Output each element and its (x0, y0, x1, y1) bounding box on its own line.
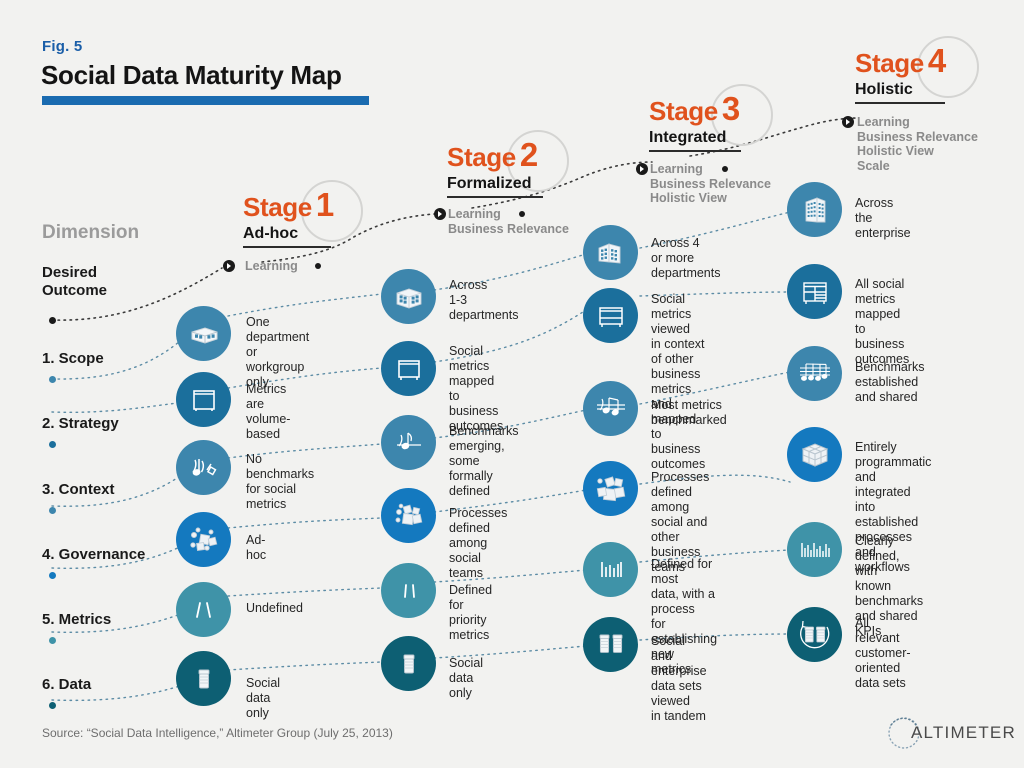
stage-header-1: Stage1 Ad-hoc (243, 186, 334, 248)
stage-subtitle-3: Integrated (649, 129, 741, 147)
stage-subtitle-1: Ad-hoc (243, 225, 334, 243)
stage-subtitle-4: Holistic (855, 81, 946, 99)
dimension-row-desired-outcome: Desired Outcome (42, 264, 107, 300)
altimeter-wordmark: ALTIMETER (911, 723, 1016, 743)
dimension-dot-governance (49, 572, 56, 579)
source-caption: Source: “Social Data Intelligence,” Alti… (42, 726, 393, 740)
node-label: Most metrics benchmarked (651, 398, 727, 428)
bars-two-icon (381, 563, 436, 618)
stage-rule-3 (649, 150, 741, 152)
dimension-label: 2. Strategy (42, 415, 119, 432)
node-label: Across 4 or more departments (651, 236, 720, 281)
stage-word: Stage (243, 192, 312, 222)
node-label: Across 1-3 departments (449, 278, 518, 323)
building-medium-icon (381, 269, 436, 324)
node-label: Social data only (246, 676, 280, 721)
dimension-label: 1. Scope (42, 350, 104, 367)
cubes-scatter-icon (176, 512, 231, 567)
building-tall-icon (787, 182, 842, 237)
stage-header-2: Stage2 Formalized (447, 136, 543, 198)
stage-word: Stage (649, 96, 718, 126)
frame-shelf-full-icon (787, 264, 842, 319)
dimension-dot-scope (49, 376, 56, 383)
altimeter-logo: ALTIMETER (884, 713, 1016, 753)
node-label: Social metrics viewed in context of othe… (651, 292, 705, 472)
page-title: Social Data Maturity Map (41, 60, 342, 91)
stage-outcome-2: Learning Business Relevance (448, 207, 569, 236)
stage-word: Stage (447, 142, 516, 172)
outcome-dot-2 (519, 211, 525, 217)
music-notes-scatter-icon (176, 440, 231, 495)
dimension-dot-data (49, 702, 56, 709)
node-label: No benchmarks for social metrics (246, 452, 314, 512)
dimension-dot-metrics (49, 637, 56, 644)
node-label: Benchmarks established and shared (855, 360, 924, 405)
stage-number-1: 1 (316, 186, 334, 223)
stage-header-4: Stage4 Holistic (855, 42, 946, 104)
dimension-label: 5. Metrics (42, 611, 111, 628)
dimension-label: 6. Data (42, 676, 91, 693)
stage-title-2: Stage2 (447, 136, 543, 174)
dimension-heading: Dimension (42, 222, 139, 244)
dimension-row-metrics: 5. Metrics (42, 611, 111, 629)
dimension-row-strategy: 2. Strategy (42, 415, 119, 433)
stage-rule-4 (855, 102, 945, 104)
outcome-dot-1 (315, 263, 321, 269)
outcome-dot-3 (722, 166, 728, 172)
dimension-row-data: 6. Data (42, 676, 91, 694)
stage-title-1: Stage1 (243, 186, 334, 224)
bars-two-icon (176, 582, 231, 637)
stage-number-3: 3 (722, 90, 740, 127)
stage-title-3: Stage3 (649, 90, 741, 128)
stage-header-3: Stage3 Integrated (649, 90, 741, 152)
frame-shelf-two-icon (583, 288, 638, 343)
dimension-label: 3. Context (42, 481, 115, 498)
outcome-arrow-icon-2 (434, 208, 446, 220)
dimension-row-scope: 1. Scope (42, 350, 104, 368)
node-label: All social metrics mapped to business ou… (855, 277, 909, 367)
frame-shelf-icon (381, 341, 436, 396)
music-staff-one-icon (381, 415, 436, 470)
node-label: All relevant customer-oriented data sets (855, 616, 911, 691)
stage-rule-2 (447, 196, 543, 198)
outcome-arrow-icon-4 (842, 116, 854, 128)
dimension-dot-desired-outcome (49, 317, 56, 324)
dimension-dot-context (49, 507, 56, 514)
figure-label: Fig. 5 (42, 38, 82, 55)
data-can-icon (176, 651, 231, 706)
bars-five-icon (583, 542, 638, 597)
building-double-icon (583, 225, 638, 280)
frame-square-icon (176, 372, 231, 427)
node-label: Defined for priority metrics (449, 583, 492, 643)
dimension-row-context: 3. Context (42, 481, 115, 499)
data-cans-cycle-icon (787, 607, 842, 662)
bars-many-icon (787, 522, 842, 577)
dimension-dot-strategy (49, 441, 56, 448)
node-label: Ad-hoc (246, 533, 266, 563)
dimension-label: 4. Governance (42, 546, 145, 563)
stage-subtitle-2: Formalized (447, 175, 543, 193)
node-label: Undefined (246, 601, 303, 616)
data-can-icon (381, 636, 436, 691)
node-label: Social metrics mapped to business outcom… (449, 344, 503, 434)
stage-outcome-1: Learning (245, 259, 298, 274)
music-staff-full-icon (787, 346, 842, 401)
data-cans-pair-icon (583, 617, 638, 672)
outcome-arrow-icon-3 (636, 163, 648, 175)
stage-outcome-4: Learning Business Relevance Holistic Vie… (857, 115, 978, 173)
stage-number-4: 4 (928, 42, 946, 79)
building-small-icon (176, 306, 231, 361)
infographic-root: Fig. 5 Social Data Maturity Map (0, 0, 1024, 768)
stage-outcome-3: Learning Business Relevance Holistic Vie… (650, 162, 771, 206)
cubes-stack-icon (583, 461, 638, 516)
dimension-row-governance: 4. Governance (42, 546, 145, 564)
node-label: Across the enterprise (855, 196, 911, 241)
dimension-label: Desired Outcome (42, 264, 107, 299)
stage-word: Stage (855, 48, 924, 78)
node-label: Social data only (449, 656, 483, 701)
stage-title-4: Stage4 (855, 42, 946, 80)
node-label: Processes defined among social teams (449, 506, 507, 581)
node-label: Metrics are volume-based (246, 382, 290, 442)
node-label: Social and enterprise data sets viewed i… (651, 634, 707, 724)
title-underline-rule (42, 96, 369, 105)
node-label: Benchmarks emerging, some formally defin… (449, 424, 518, 499)
cube-solid-icon (787, 427, 842, 482)
music-staff-two-icon (583, 381, 638, 436)
stage-rule-1 (243, 246, 331, 248)
node-label: One department or workgroup only (246, 315, 309, 390)
outcome-arrow-icon-1 (223, 260, 235, 272)
cubes-group-icon (381, 488, 436, 543)
stage-number-2: 2 (520, 136, 538, 173)
